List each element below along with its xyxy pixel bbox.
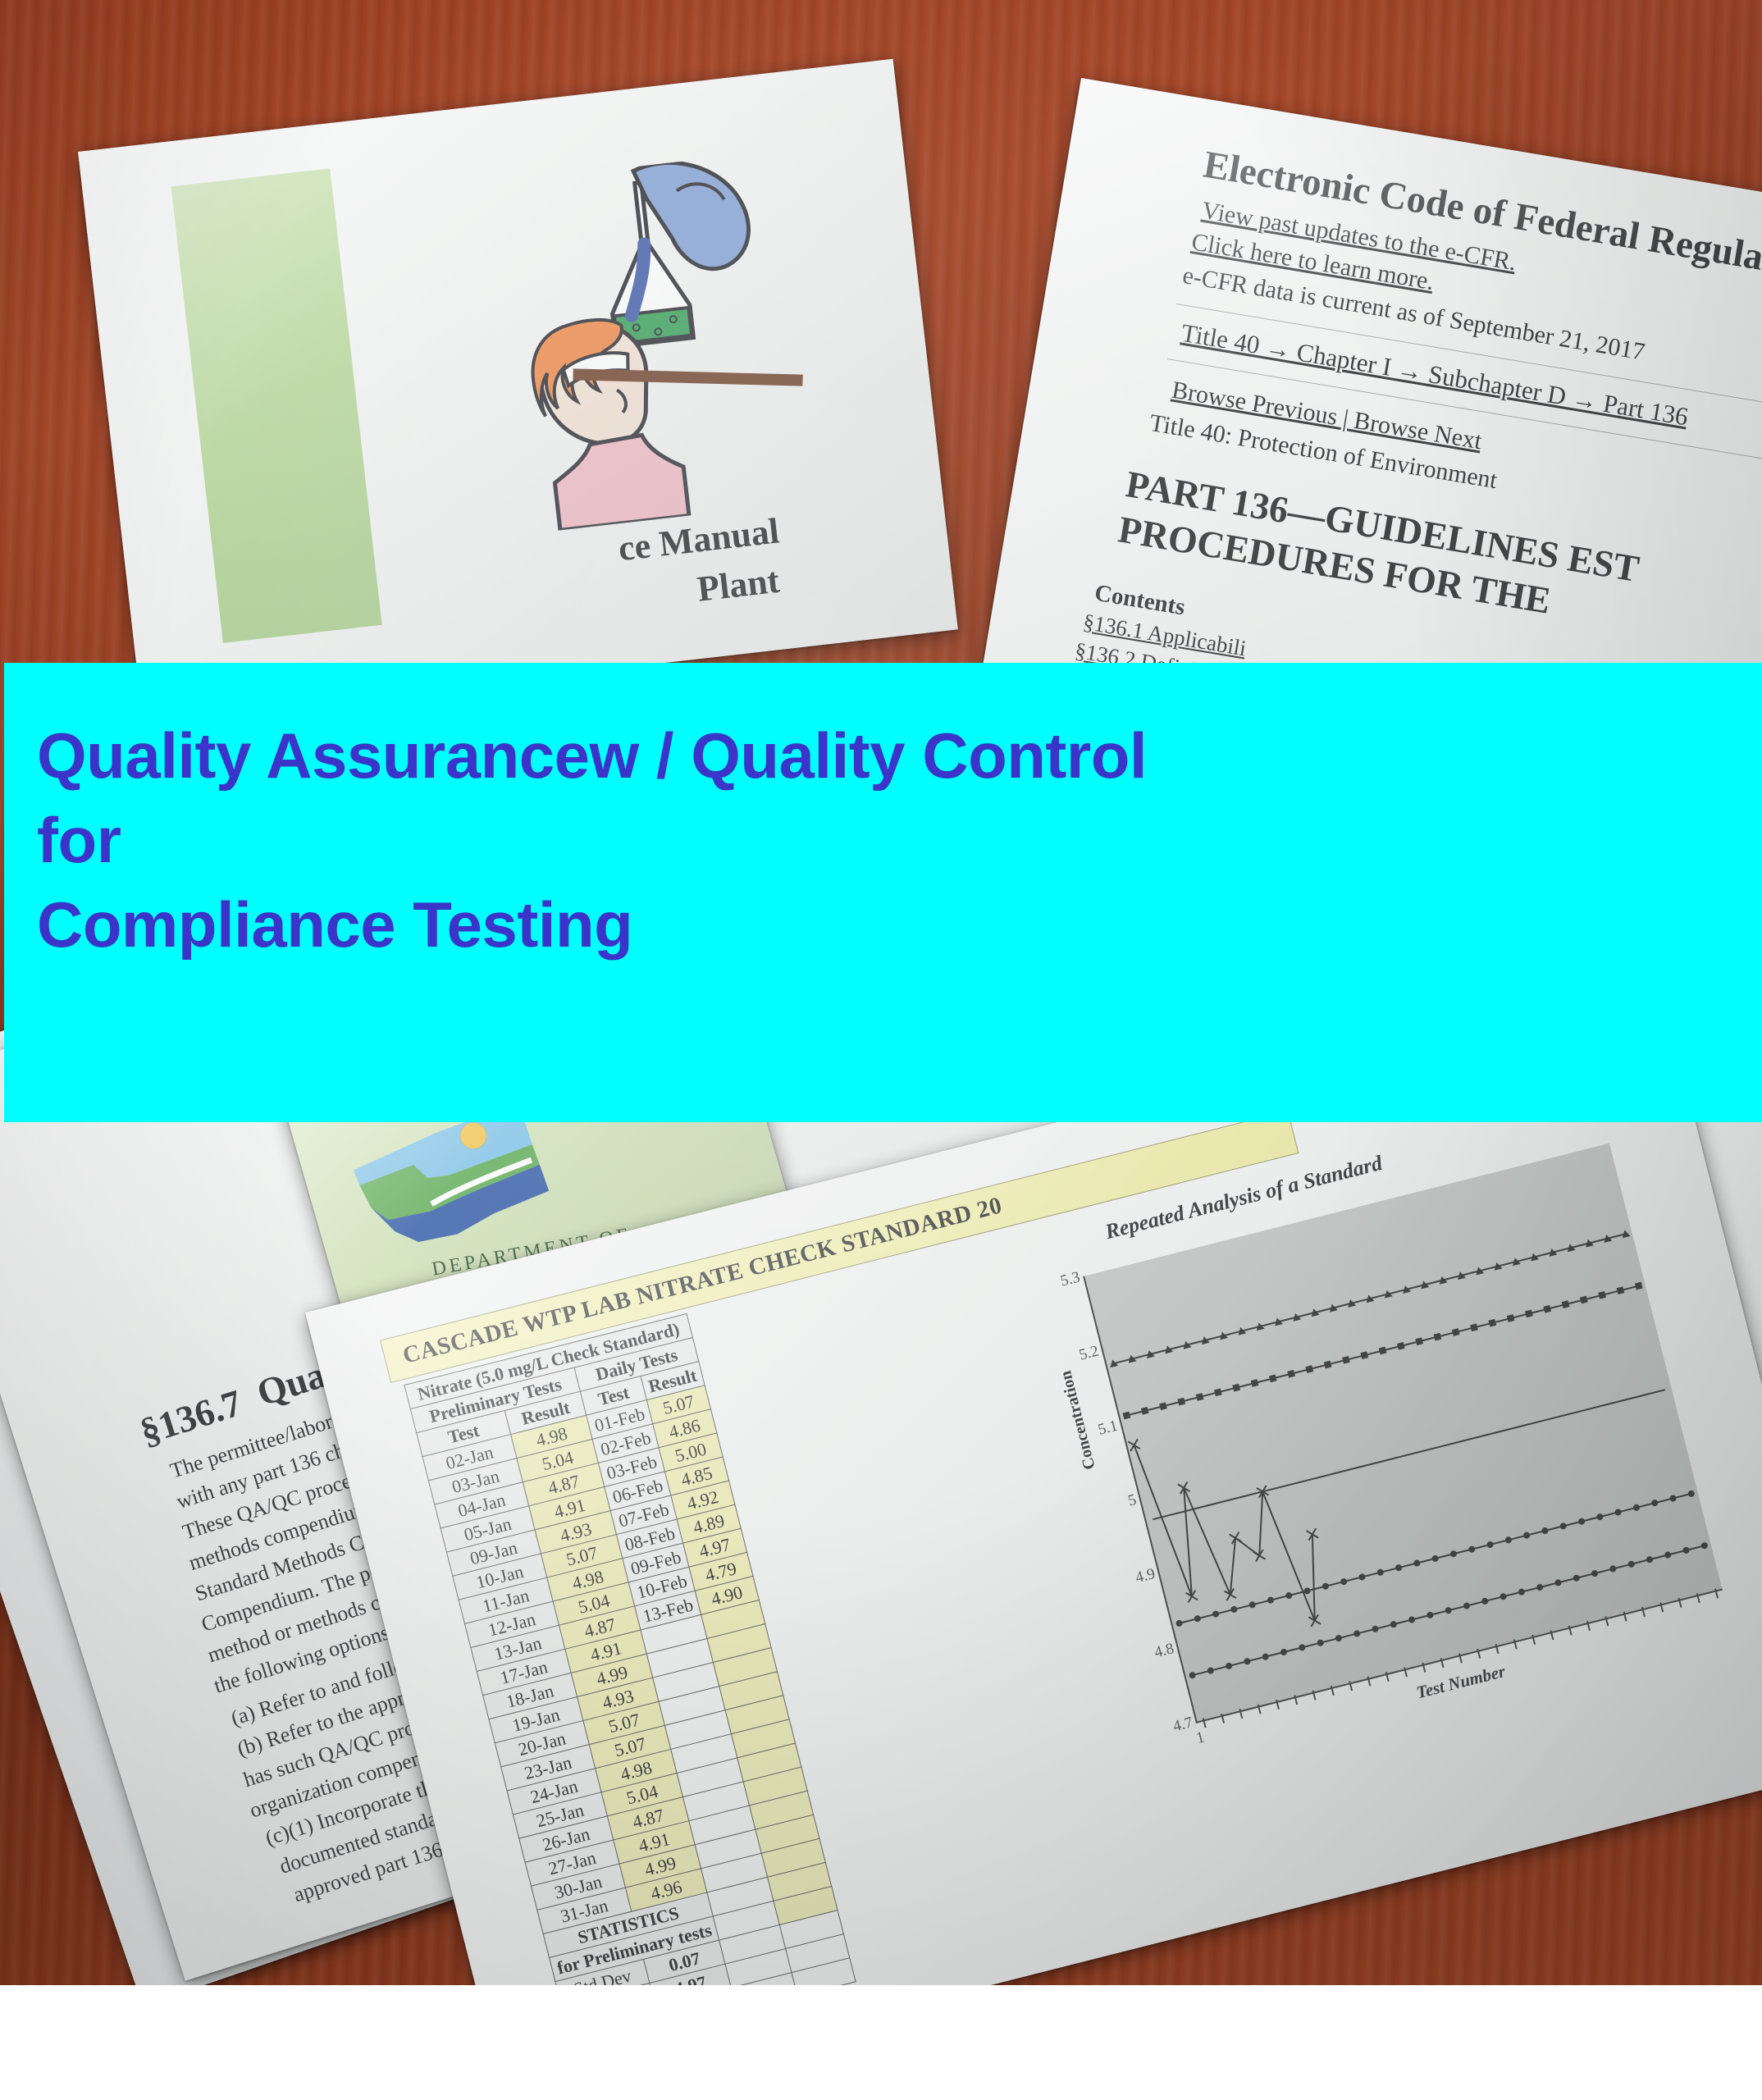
banner-title: Quality Assurancew / Quality Control for…	[37, 714, 1147, 967]
chart-series-svg	[1084, 1144, 1722, 1722]
chart-series-upper-control-limit-3s-	[1108, 1229, 1630, 1367]
chart-y-tick: 5.2	[1077, 1343, 1100, 1365]
chart-y-tick: 4.8	[1153, 1640, 1175, 1662]
chart-y-tick: 4.7	[1171, 1714, 1194, 1736]
qa-manual-cover: ce Manual Plant	[78, 59, 958, 723]
chart-y-tick: 5.1	[1096, 1417, 1119, 1439]
chart-series-mean	[1153, 1390, 1664, 1519]
bottom-white-strip	[0, 1985, 1762, 2100]
chart-plot-area: 4.74.84.955.15.25.3	[1083, 1144, 1723, 1723]
chart-series-lower-warning-limit-2s-	[1175, 1490, 1696, 1627]
chart-y-tick: 4.9	[1134, 1565, 1157, 1587]
qa-cover-line2: Plant	[695, 559, 781, 610]
cover-green-band	[171, 168, 382, 642]
chart-y-tick: 5.3	[1059, 1268, 1082, 1290]
chart-series-upper-warning-limit-2s-	[1123, 1282, 1643, 1420]
chart-y-tick: 5	[1126, 1491, 1139, 1511]
chart-series-check-standard-result	[1128, 1402, 1339, 1659]
title-banner: Quality Assurancew / Quality Control for…	[4, 663, 1762, 1122]
nitrate-check-standard-table: Nitrate (5.0 mg/L Check Standard)Prelimi…	[404, 1313, 856, 1985]
screenshot-root: ce Manual Plant Electronic Code of Feder…	[0, 0, 1762, 2100]
chart-y-axis-label: Concentration	[1057, 1369, 1100, 1472]
chart-x-tick-1: 1	[1194, 1728, 1207, 1748]
chemist-illustration	[429, 150, 819, 541]
